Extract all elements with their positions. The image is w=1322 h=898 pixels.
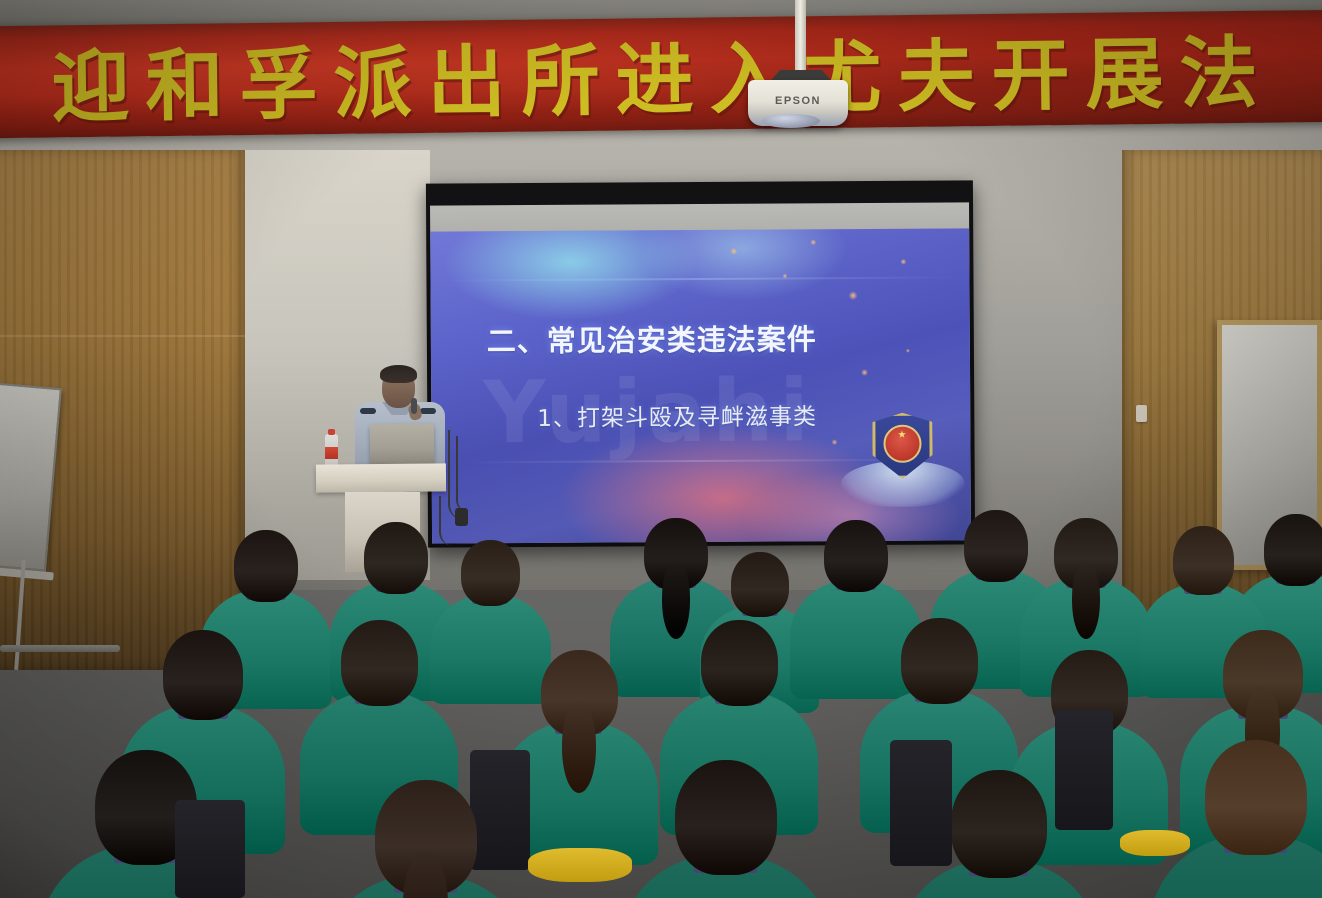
audience-member-head xyxy=(341,620,418,706)
screen-surface: Yujahi 二、常见治安类违法案件 1、打架斗殴及寻衅滋事类 ★ xyxy=(430,202,971,543)
china-police-emblem: ★ xyxy=(856,410,949,507)
audience-member-head xyxy=(364,522,428,594)
presenter-laptop xyxy=(370,423,435,466)
projector-mount-rod xyxy=(795,0,806,76)
audience-member-scarf xyxy=(528,848,632,882)
audience-member-head xyxy=(163,630,243,720)
audience-member-head xyxy=(675,760,777,875)
slide-subtitle: 1、打架斗殴及寻衅滋事类 xyxy=(537,397,817,433)
chair-back xyxy=(175,800,245,898)
presentation-slide: Yujahi 二、常见治安类违法案件 1、打架斗殴及寻衅滋事类 ★ xyxy=(430,228,971,543)
audience-member-ponytail xyxy=(662,563,690,639)
bottle-label xyxy=(325,447,338,459)
audience xyxy=(0,500,1322,898)
audience-member-head xyxy=(901,618,978,704)
officer-epaulet-right xyxy=(420,408,436,414)
panel-seam xyxy=(0,335,245,337)
projector-brand-label: EPSON xyxy=(748,95,848,107)
bottle-cap xyxy=(328,429,335,435)
microphone xyxy=(411,398,417,414)
ceiling-projector: EPSON xyxy=(748,80,848,126)
audience-member-head xyxy=(1173,526,1234,595)
audience-member-head xyxy=(964,510,1028,582)
red-welcome-banner: 迎和孚派出所进入尤夫开展法 xyxy=(0,10,1322,138)
water-bottle xyxy=(325,434,338,467)
podium-top xyxy=(316,463,446,492)
officer-epaulet-left xyxy=(360,408,376,414)
officer-hair xyxy=(380,365,417,383)
audience-member-head xyxy=(824,520,888,592)
audience-member-head xyxy=(234,530,298,602)
audience-member-head xyxy=(1205,740,1307,855)
audience-member-head xyxy=(731,552,789,617)
projection-screen: Yujahi 二、常见治安类违法案件 1、打架斗殴及寻衅滋事类 ★ xyxy=(426,180,975,547)
audience-member-ponytail xyxy=(562,703,596,793)
audience-member-head xyxy=(701,620,778,706)
light-switch[interactable] xyxy=(1136,405,1147,422)
audience-member-scarf xyxy=(1120,830,1190,856)
chair-back xyxy=(470,750,530,870)
audience-member-head xyxy=(951,770,1047,878)
lecture-room-photo: 迎和孚派出所进入尤夫开展法 EPSON Yujahi xyxy=(0,0,1322,898)
audience-member-uniform xyxy=(430,594,551,704)
emblem-star: ★ xyxy=(897,431,906,441)
chair-back xyxy=(1055,710,1113,830)
audience-member-head xyxy=(461,540,520,606)
banner-text: 迎和孚派出所进入尤夫开展法 xyxy=(0,10,1322,138)
audience-member-head xyxy=(1264,514,1322,586)
audience-member-uniform xyxy=(790,579,922,699)
projector-lens xyxy=(762,114,820,128)
chair-back xyxy=(890,740,952,866)
audience-member-ponytail xyxy=(1072,563,1100,639)
slide-title: 二、常见治安类违法案件 xyxy=(487,316,817,360)
